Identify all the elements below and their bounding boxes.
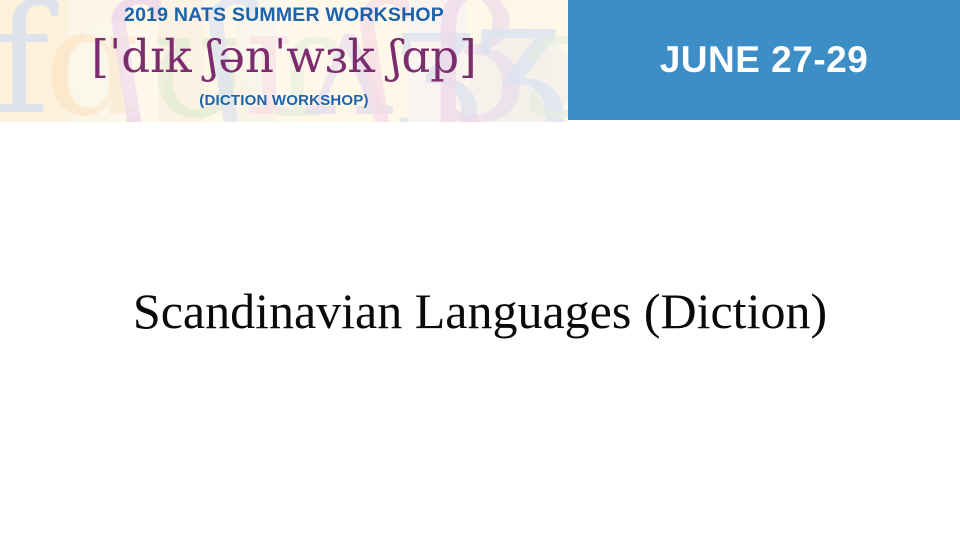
diction-workshop-subcaption: (DICTION WORKSHOP) [0,92,568,109]
slide-canvas: f ɑ ʃ ʊ ʃ ɪ ɾ ʌ ʃ ʒ β ʒ ɔ [0,0,960,540]
date-panel: JUNE 27-29 [568,0,960,120]
workshop-eyebrow-label: 2019 NATS SUMMER WORKSHOP [0,4,568,27]
page-title: Scandinavian Languages (Diction) [60,280,900,342]
ipa-transcription-title: [ˈdɪk ʃənˈwɜk ʃɑp] [0,28,568,86]
event-date-label: JUNE 27-29 [568,0,960,120]
banner-text-stack: 2019 NATS SUMMER WORKSHOP [ˈdɪk ʃənˈwɜk … [0,0,568,122]
header-banner: f ɑ ʃ ʊ ʃ ɪ ɾ ʌ ʃ ʒ β ʒ ɔ [0,0,960,122]
